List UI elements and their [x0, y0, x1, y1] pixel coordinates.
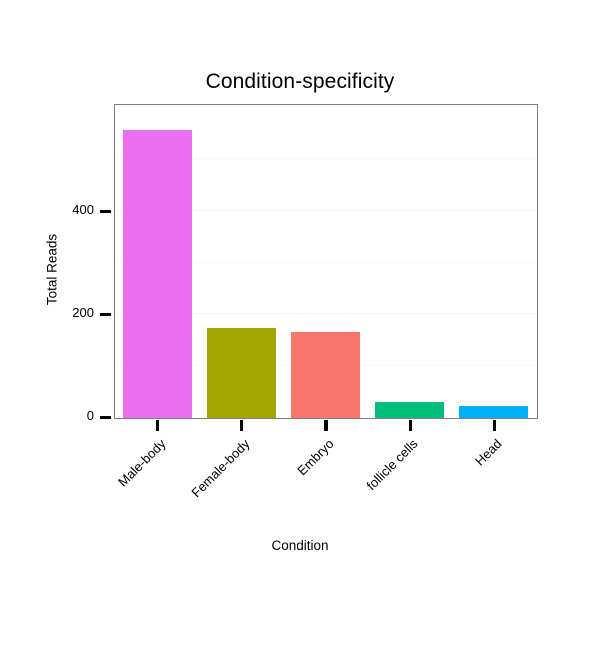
- x-axis-title: Condition: [0, 538, 600, 553]
- y-tick-mark: [100, 210, 111, 213]
- y-tick-mark: [100, 313, 111, 316]
- x-tick-mark: [156, 420, 159, 431]
- y-tick-mark: [100, 416, 111, 419]
- x-tick-mark: [493, 420, 496, 431]
- bar-chart: Condition-specificity 0200400 Total Read…: [0, 0, 600, 600]
- x-tick-mark: [324, 420, 327, 431]
- x-tick-mark: [240, 420, 243, 431]
- bar-embryo: [291, 332, 360, 418]
- y-axis-title: Total Reads: [45, 210, 60, 330]
- bar-head: [459, 406, 528, 418]
- chart-title: Condition-specificity: [0, 70, 600, 94]
- bar-follicle-cells: [375, 402, 444, 418]
- y-tick-label: 0: [0, 408, 94, 423]
- plot-area: [115, 105, 537, 418]
- plot-panel: [114, 104, 538, 419]
- bar-male-body: [123, 130, 192, 418]
- bar-female-body: [207, 328, 276, 418]
- x-tick-mark: [409, 420, 412, 431]
